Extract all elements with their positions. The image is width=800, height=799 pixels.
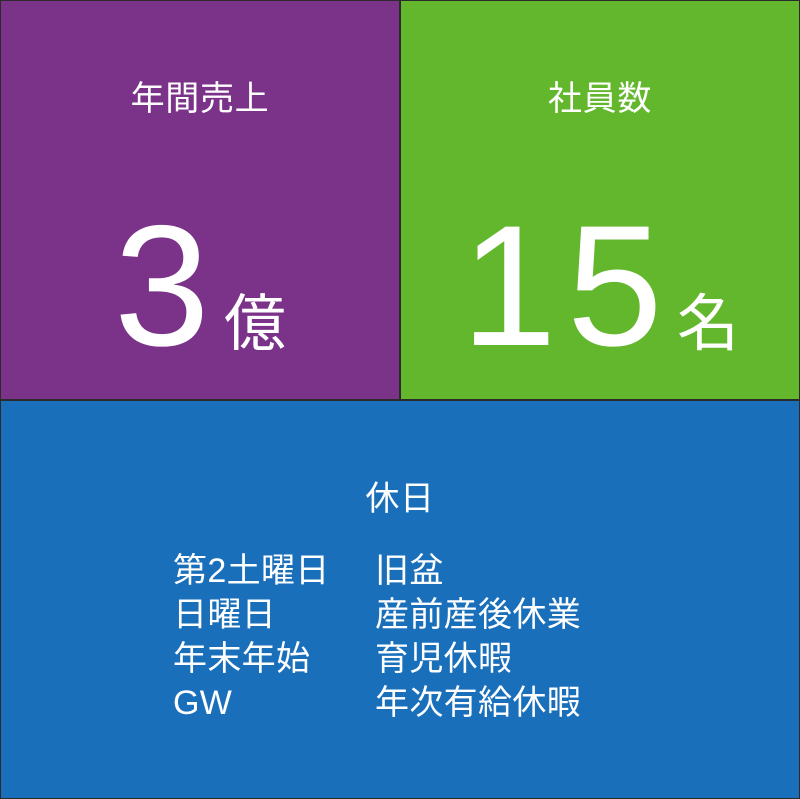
panel-title-annual-sales: 年間売上 [1, 82, 399, 116]
stat-unit-annual-sales: 億 [224, 294, 286, 356]
holiday-columns: 第2土曜日 日曜日 年末年始 GW 旧盆 産前産後休業 育児休暇 年次有給休暇 [173, 549, 627, 725]
holiday-column-right: 旧盆 産前産後休業 育児休暇 年次有給休暇 [375, 549, 627, 725]
stat-value-employee-count: 15 [461, 200, 673, 372]
panel-title-holidays: 休日 [1, 482, 799, 516]
holiday-item: 産前産後休業 [375, 593, 627, 637]
holiday-item: 年末年始 [173, 637, 375, 681]
holiday-list: 第2土曜日 日曜日 年末年始 GW 旧盆 産前産後休業 育児休暇 年次有給休暇 [1, 549, 799, 725]
panel-annual-sales: 年間売上 3 億 [1, 1, 399, 399]
stat-value-annual-sales: 3 [114, 200, 220, 372]
holiday-item: GW [173, 681, 375, 725]
stat-unit-employee-count: 名 [677, 294, 739, 356]
holiday-item: 旧盆 [375, 549, 627, 593]
holiday-item: 第2土曜日 [173, 549, 375, 593]
panel-title-employee-count: 社員数 [401, 82, 799, 116]
holiday-item: 育児休暇 [375, 637, 627, 681]
panel-holidays: 休日 第2土曜日 日曜日 年末年始 GW 旧盆 産前産後休業 育児休暇 年次有給… [1, 401, 799, 798]
panel-employee-count: 社員数 15 名 [401, 1, 799, 399]
holiday-item: 年次有給休暇 [375, 681, 627, 725]
company-stats-infographic: 年間売上 3 億 社員数 15 名 休日 第2土曜日 日曜日 年末年始 GW [0, 0, 800, 799]
holiday-item: 日曜日 [173, 593, 375, 637]
stat-annual-sales: 3 億 [1, 200, 399, 372]
stat-employee-count: 15 名 [401, 200, 799, 372]
holiday-column-left: 第2土曜日 日曜日 年末年始 GW [173, 549, 375, 725]
